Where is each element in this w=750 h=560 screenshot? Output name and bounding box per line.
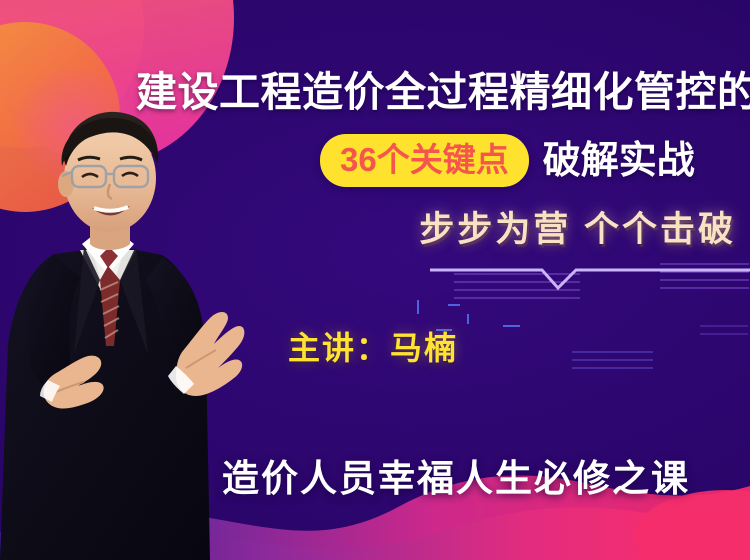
headline-suffix: 破解实战 [543,142,695,180]
headline-badge-row: 36个关键点 破解实战 [320,134,695,187]
subtitle-slogan: 步步为营 个个击破 [419,212,736,247]
bottom-tagline: 造价人员幸福人生必修之课 [222,460,690,497]
course-promo-poster: 建设工程造价全过程精细化管控的 36个关键点 破解实战 步步为营 个个击破 主讲… [0,0,750,560]
thin-zigzag-line [430,262,750,294]
page-title: 建设工程造价全过程精细化管控的 [136,72,748,113]
speaker-name-label: 主讲：马楠 [288,332,458,364]
key-points-badge: 36个关键点 [320,134,529,187]
